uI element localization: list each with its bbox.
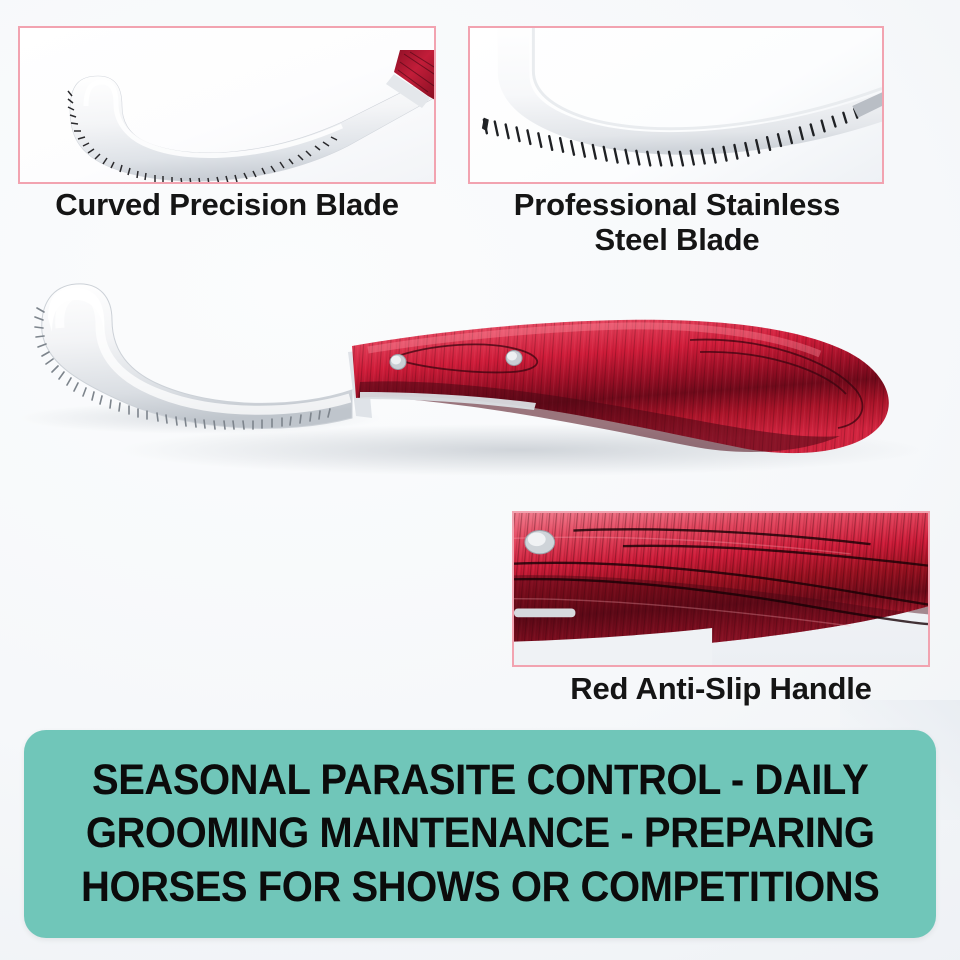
detail-panel-stainless-blade: [468, 26, 884, 184]
detail-panel-curved-blade: [18, 26, 436, 184]
detail-panel-handle: [512, 511, 930, 667]
hero-product-image: [0, 240, 960, 510]
bottom-banner: SEASONAL PARASITE CONTROL - DAILY GROOMI…: [24, 730, 936, 938]
banner-text: SEASONAL PARASITE CONTROL - DAILY GROOMI…: [64, 754, 896, 914]
curved-blade-icon: [20, 28, 434, 182]
caption-curved-blade: Curved Precision Blade: [10, 188, 444, 223]
wood-handle-icon: [514, 513, 928, 665]
serrated-blade-icon: [470, 28, 882, 182]
product-infographic: Curved Precision Blade: [0, 0, 960, 960]
caption-handle: Red Anti-Slip Handle: [512, 672, 930, 707]
